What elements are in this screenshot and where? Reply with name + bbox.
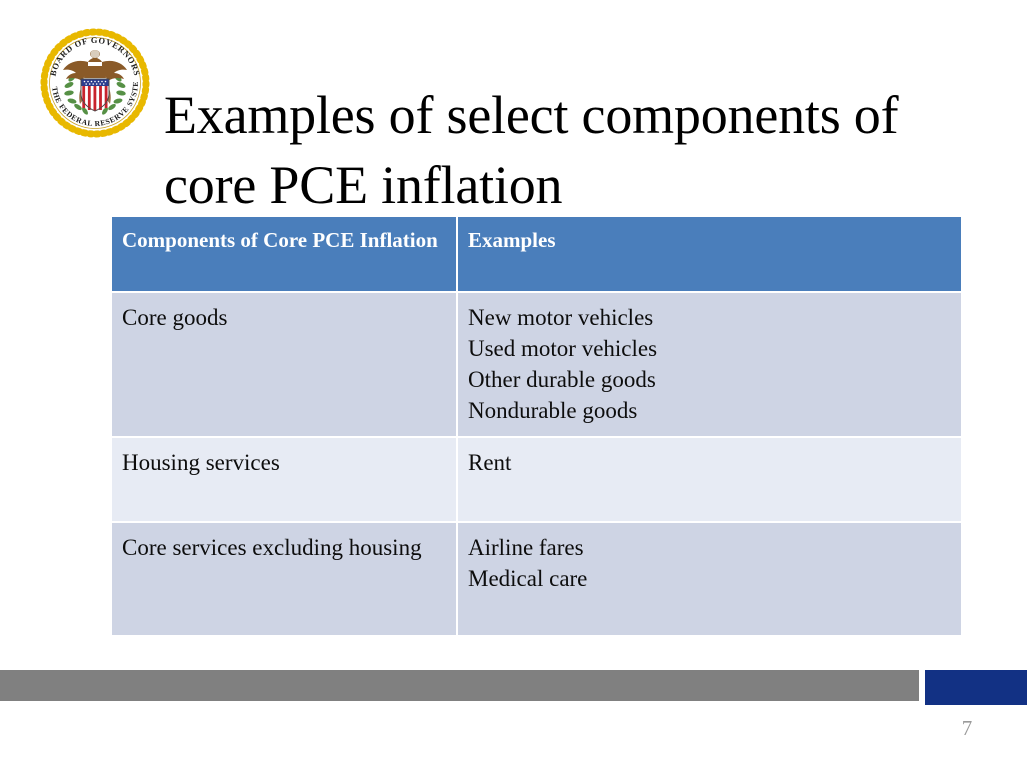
example-item: Nondurable goods: [468, 395, 961, 426]
table-row: Housing services Rent: [112, 438, 961, 521]
cell-component-core-services-excluding-housing: Core services excluding housing: [112, 523, 456, 635]
cell-examples-housing-services: Rent: [458, 438, 961, 521]
footer-accent-block: [925, 670, 1027, 705]
table-row: Core services excluding housing Airline …: [112, 523, 961, 635]
federal-reserve-seal: BOARD OF GOVERNORS OF THE FEDERAL RESERV…: [38, 26, 152, 140]
table-header-row: Components of Core PCE Inflation Example…: [112, 217, 961, 291]
cell-examples-core-services: Airline fares Medical care: [458, 523, 961, 635]
footer-gray-bar: [0, 670, 919, 701]
cell-component-housing-services: Housing services: [112, 438, 456, 521]
cell-component-core-goods: Core goods: [112, 293, 456, 436]
column-header-examples: Examples: [458, 217, 961, 291]
components-table-container: Components of Core PCE Inflation Example…: [112, 217, 961, 635]
example-item: Rent: [468, 447, 961, 478]
example-item: Other durable goods: [468, 364, 961, 395]
components-examples-table: Components of Core PCE Inflation Example…: [112, 217, 961, 635]
page-title: Examples of select components of core PC…: [164, 80, 964, 220]
table-row: Core goods New motor vehicles Used motor…: [112, 293, 961, 436]
column-header-components: Components of Core PCE Inflation: [112, 217, 456, 291]
example-item: Used motor vehicles: [468, 333, 961, 364]
page-number: 7: [952, 716, 982, 741]
example-item: Medical care: [468, 563, 961, 594]
example-item: New motor vehicles: [468, 302, 961, 333]
example-item: Airline fares: [468, 532, 961, 563]
cell-examples-core-goods: New motor vehicles Used motor vehicles O…: [458, 293, 961, 436]
